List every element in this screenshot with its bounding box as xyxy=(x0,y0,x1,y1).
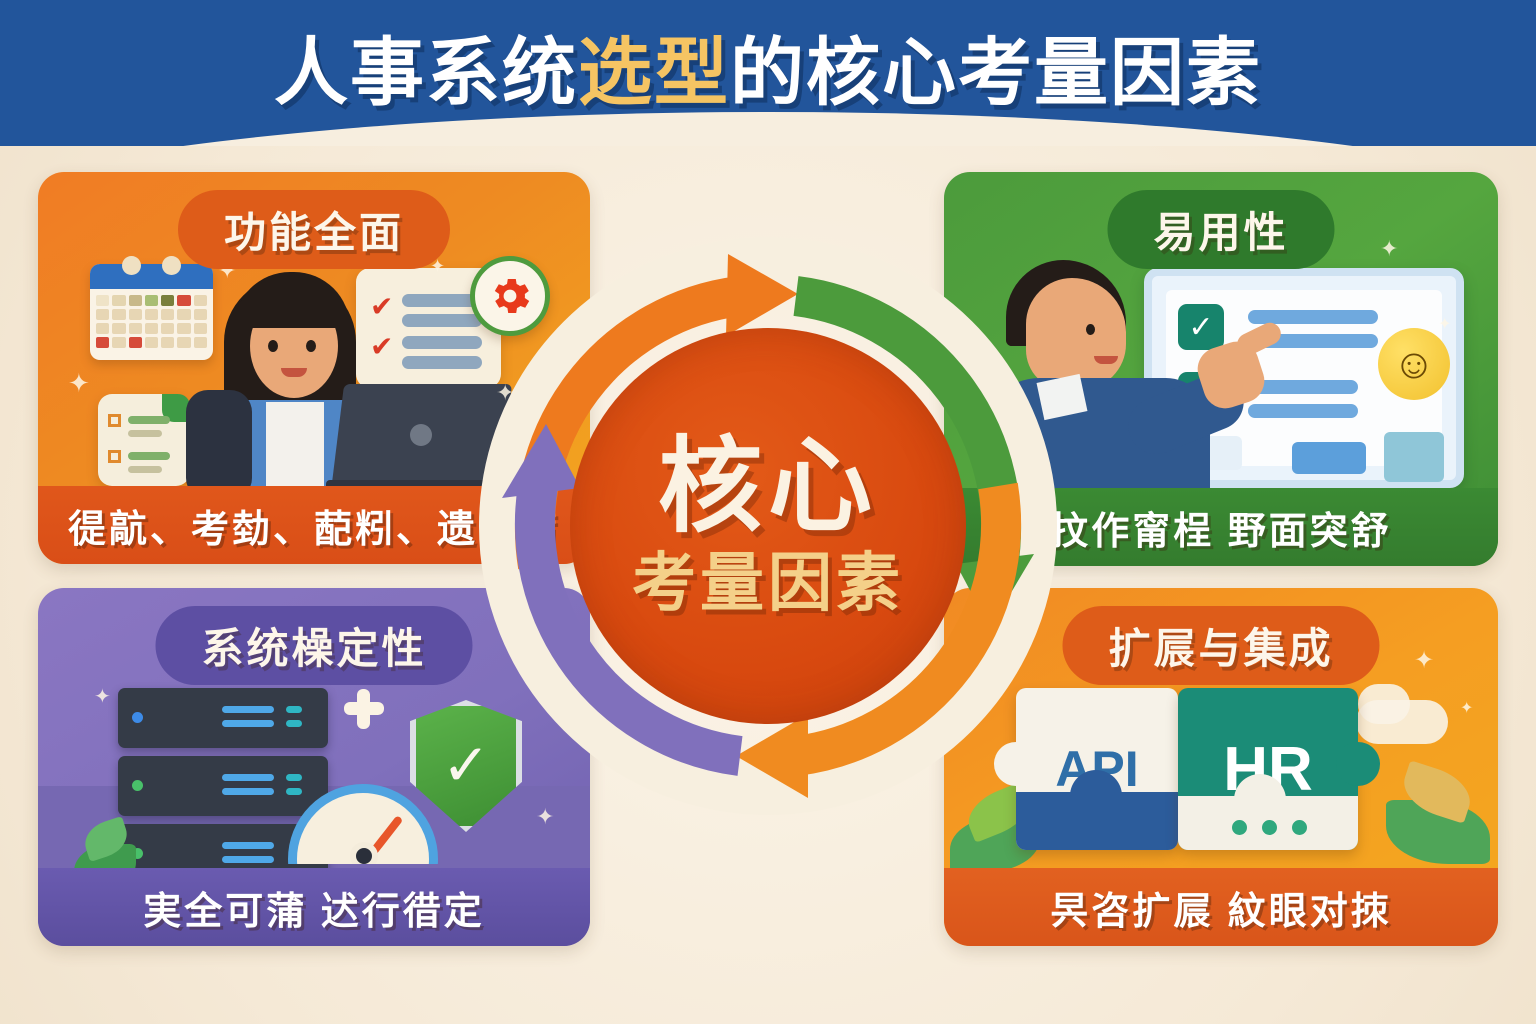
card-functions-title: 功能全面 xyxy=(178,190,450,269)
center-disc: 核心 考量因素 xyxy=(570,328,966,724)
gauge-icon xyxy=(288,784,438,864)
content-line xyxy=(1248,404,1358,418)
page-title-highlight: 选型 xyxy=(578,13,730,120)
smiley-icon: ☺ xyxy=(1378,328,1450,400)
center-title-line2: 考量因素 xyxy=(632,548,904,618)
puzzle-nub-blue xyxy=(1070,770,1122,822)
sparkle-icon: ✦ xyxy=(94,684,111,709)
sparkle-icon: ✦ xyxy=(1438,314,1451,334)
sparkle-icon: ✦ xyxy=(68,368,90,399)
person-eye-left xyxy=(268,340,278,352)
check-icon: ✔ xyxy=(370,290,393,323)
server-unit xyxy=(118,688,328,748)
checkbox-checked[interactable]: ✓ xyxy=(1178,304,1224,350)
page-title: 人事系统选型的核心考量因素 xyxy=(0,0,1536,132)
person-eye xyxy=(1086,324,1095,335)
ui-tile xyxy=(1384,432,1444,482)
status-dot xyxy=(1232,820,1247,835)
sparkle-icon: ✦ xyxy=(1460,698,1473,718)
cloud-icon xyxy=(1358,684,1410,724)
form-document-icon xyxy=(98,394,190,486)
calendar-icon xyxy=(90,264,213,360)
laptop-logo xyxy=(410,424,432,446)
person-fringe xyxy=(234,272,350,328)
office-chair xyxy=(186,390,252,500)
calendar-ring-right xyxy=(162,256,181,275)
cycle-diagram: 核心 考量因素 xyxy=(478,236,1058,816)
card-integration-title: 扩屒与集成 xyxy=(1062,606,1379,685)
calendar-ring-left xyxy=(122,256,141,275)
calendar-grid xyxy=(90,289,213,354)
center-title-line1: 核心 xyxy=(658,433,878,542)
puzzle-nub xyxy=(1336,742,1380,786)
page-title-part1: 人事系统 xyxy=(274,13,578,120)
plus-icon-v xyxy=(357,689,370,729)
card-usability-title: 易用性 xyxy=(1107,190,1334,269)
ui-button[interactable] xyxy=(1292,442,1366,474)
infographic-canvas: 人事系统选型的核心考量因素 xyxy=(0,0,1536,1024)
person-eye-right xyxy=(306,340,316,352)
status-dot xyxy=(1292,820,1307,835)
puzzle-nub-white xyxy=(1234,774,1286,826)
card-stability-title: 系统橾定性 xyxy=(155,606,472,685)
sparkle-icon: ✦ xyxy=(1380,236,1398,262)
card-stability-caption: 実全可蒲 迖行徣定 xyxy=(38,868,590,946)
card-integration-caption: 昗咨扩屒 紋眼对拺 xyxy=(944,868,1498,946)
status-dot xyxy=(1262,820,1277,835)
sparkle-icon: ✦ xyxy=(1414,646,1434,675)
page-title-part2: 的核心考量因素 xyxy=(730,13,1262,120)
person-shirt xyxy=(266,402,324,496)
check-icon: ✔ xyxy=(370,330,393,363)
header-banner: 人事系统选型的核心考量因素 xyxy=(0,0,1536,146)
calendar-header xyxy=(90,264,213,289)
